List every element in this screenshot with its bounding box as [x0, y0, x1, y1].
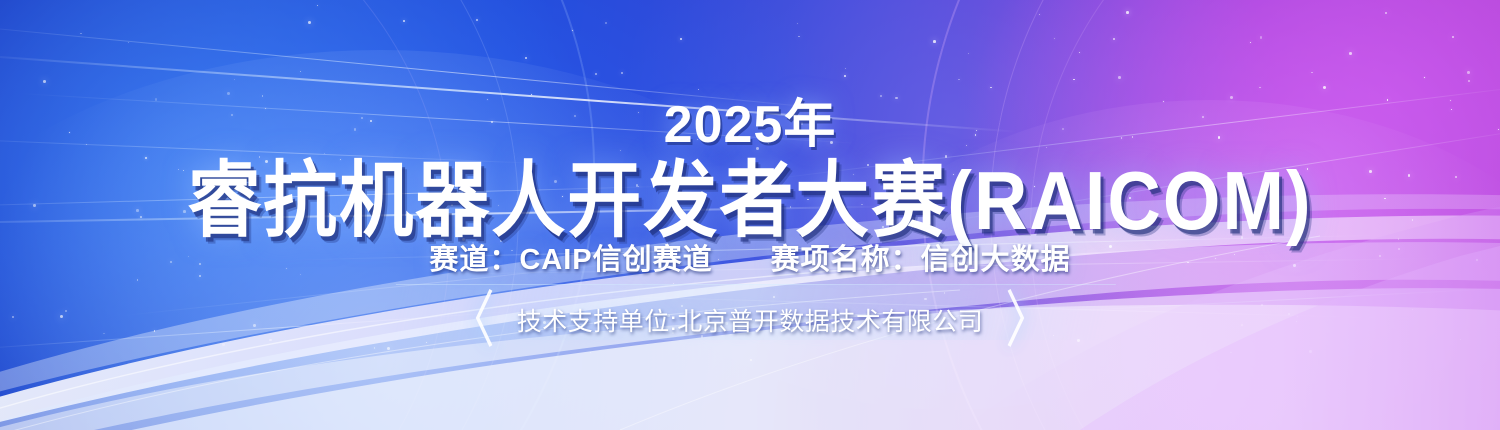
support-unit-text: 技术支持单位:北京普开数据技术有限公司 — [517, 302, 983, 338]
chevron-right-icon: 〉 — [1005, 289, 1051, 351]
event-banner: 2025年 睿抗机器人开发者大赛(RAICOM) 赛道：CAIP信创赛道 赛项名… — [0, 0, 1500, 430]
event-name-label: 赛项名称：信创大数据 — [771, 236, 1071, 278]
banner-subtitle-row: 赛道：CAIP信创赛道 赛项名称：信创大数据 — [0, 236, 1500, 278]
support-bar: 〈 技术支持单位:北京普开数据技术有限公司 〉 — [0, 297, 1500, 343]
chevron-left-icon: 〈 — [449, 289, 495, 351]
banner-content: 2025年 睿抗机器人开发者大赛(RAICOM) 赛道：CAIP信创赛道 赛项名… — [0, 0, 1500, 430]
track-label: 赛道：CAIP信创赛道 — [429, 236, 712, 278]
